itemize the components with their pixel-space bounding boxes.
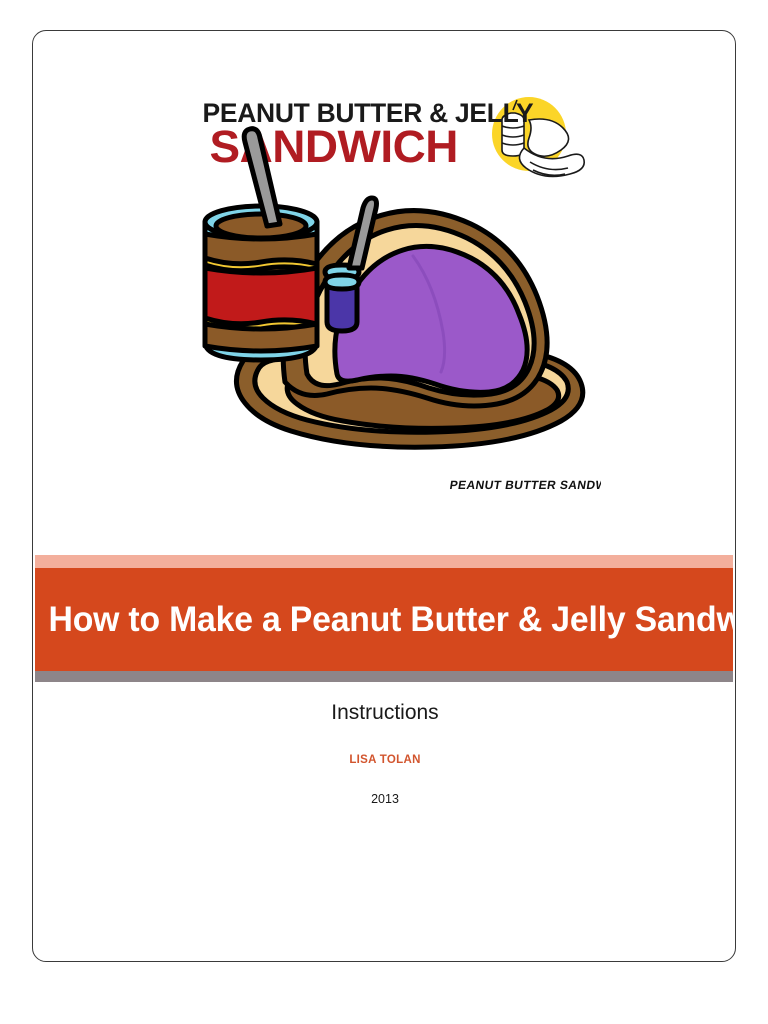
accent-bar-top xyxy=(35,555,733,568)
accent-bar-bottom xyxy=(35,671,733,682)
document-subtitle: Instructions xyxy=(33,701,736,724)
page-title: How to Make a Peanut Butter & Jelly Sand… xyxy=(35,602,736,637)
banner-background: How to Make a Peanut Butter & Jelly Sand… xyxy=(35,568,733,671)
document-page: PEANUT BUTTER & JELLY SANDWICH xyxy=(32,30,736,962)
document-author: LISA TOLAN xyxy=(33,754,736,766)
subtitle-block: Instructions LISA TOLAN 2013 xyxy=(33,701,736,806)
illustration-caption: PEANUT BUTTER SANDWICH xyxy=(449,478,601,492)
document-year: 2013 xyxy=(33,792,736,806)
title-banner: How to Make a Peanut Butter & Jelly Sand… xyxy=(35,555,733,682)
cover-illustration: PEANUT BUTTER & JELLY SANDWICH xyxy=(181,86,601,511)
